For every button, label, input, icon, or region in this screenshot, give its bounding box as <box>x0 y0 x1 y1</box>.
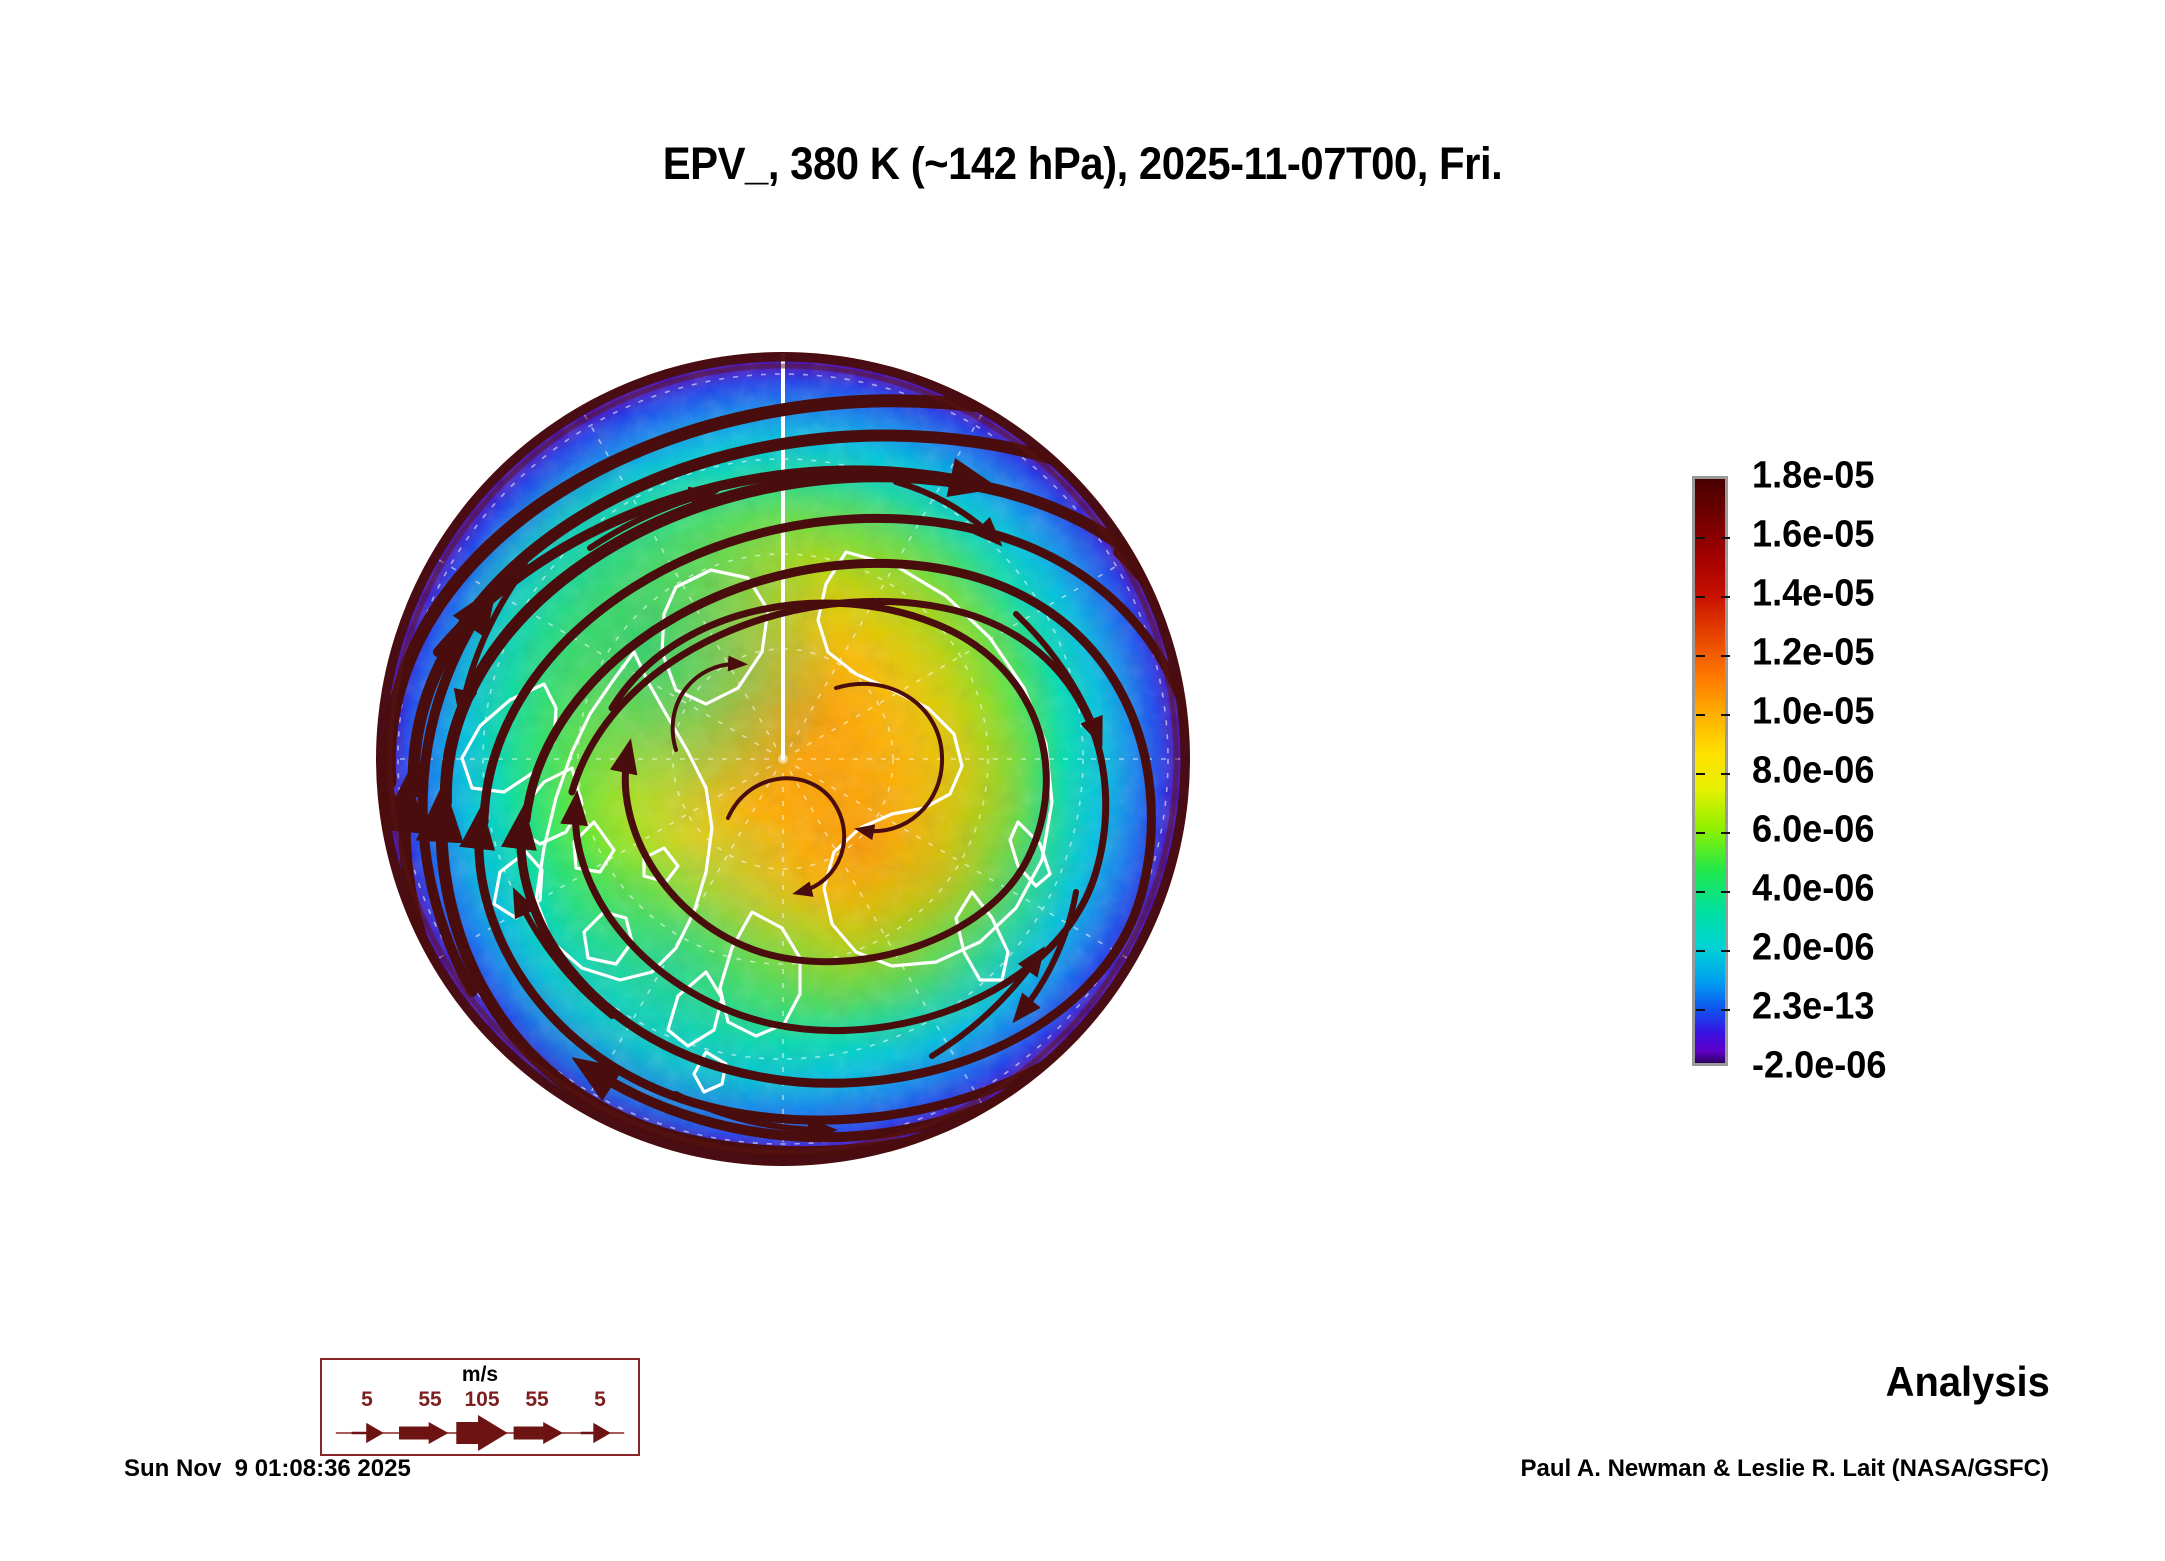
colorbar-tick-label: -2.0e-06 <box>1752 1045 1886 1088</box>
colorbar-tick-label: 1.8e-05 <box>1752 455 1874 498</box>
polar-map[interactable] <box>376 352 1190 1166</box>
colorbar-tick-label: 4.0e-06 <box>1752 868 1874 911</box>
colorbar-tick-label: 1.4e-05 <box>1752 573 1874 616</box>
colorbar-ticks <box>1695 479 1731 1069</box>
author-credit: Paul A. Newman & Leslie R. Lait (NASA/GS… <box>1520 1455 2049 1483</box>
wind-value-label: 105 <box>464 1388 499 1412</box>
colorbar-tick-label: 2.0e-06 <box>1752 927 1874 970</box>
epv-field <box>377 353 1190 1166</box>
plot-canvas: EPV_, 380 K (~142 hPa), 2025-11-07T00, F… <box>0 0 2165 1561</box>
wind-value-label: 55 <box>525 1388 548 1412</box>
colorbar-gradient <box>1692 476 1728 1066</box>
wind-arrow-scale <box>322 1412 638 1454</box>
colorbar-tick-label: 2.3e-13 <box>1752 986 1874 1029</box>
colorbar-tick-label: 1.0e-05 <box>1752 691 1874 734</box>
colorbar-labels: 1.8e-051.6e-051.4e-051.2e-051.0e-058.0e-… <box>1752 476 2082 1096</box>
analysis-label: Analysis <box>1886 1358 2050 1406</box>
colorbar-tick <box>1695 1009 1731 1011</box>
polar-map-svg <box>376 352 1190 1166</box>
colorbar-tick-label: 8.0e-06 <box>1752 750 1874 793</box>
wind-value-labels: 555105555 <box>322 1388 638 1414</box>
wind-value-label: 55 <box>418 1388 441 1412</box>
wind-unit-label: m/s <box>322 1363 638 1387</box>
colorbar-tick <box>1695 655 1731 657</box>
wind-value-label: 5 <box>361 1388 373 1412</box>
wind-value-label: 5 <box>594 1388 606 1412</box>
colorbar-tick <box>1695 950 1731 952</box>
colorbar-tick-label: 1.6e-05 <box>1752 514 1874 557</box>
colorbar-tick <box>1695 596 1731 598</box>
page-title: EPV_, 380 K (~142 hPa), 2025-11-07T00, F… <box>76 138 2089 190</box>
wind-speed-legend: m/s 555105555 <box>320 1358 640 1456</box>
generation-timestamp: Sun Nov 9 01:08:36 2025 <box>124 1455 411 1483</box>
colorbar-tick <box>1695 832 1731 834</box>
colorbar-tick <box>1695 537 1731 539</box>
colorbar-tick-label: 1.2e-05 <box>1752 632 1874 675</box>
colorbar-tick <box>1695 773 1731 775</box>
colorbar-tick <box>1695 714 1731 716</box>
colorbar-tick-label: 6.0e-06 <box>1752 809 1874 852</box>
colorbar-tick <box>1695 891 1731 893</box>
colorbar: 1.8e-051.6e-051.4e-051.2e-051.0e-058.0e-… <box>1692 476 2112 1076</box>
